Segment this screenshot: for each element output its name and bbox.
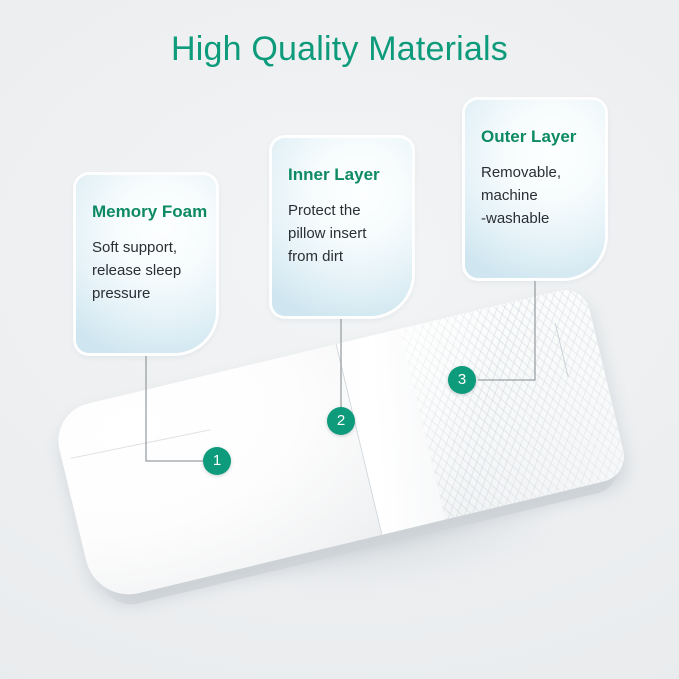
callout-body-3-line-3: -washable xyxy=(481,207,589,230)
callout-body-1: Soft support, release sleep pressure xyxy=(92,236,200,305)
callout-body-2-line-2: pillow insert xyxy=(288,222,396,245)
callout-memory-foam[interactable]: Memory Foam Soft support, release sleep … xyxy=(76,175,216,353)
marker-3[interactable]: 3 xyxy=(448,366,476,394)
callout-body-3-line-2: machine xyxy=(481,184,589,207)
callout-title-2: Inner Layer xyxy=(288,164,396,185)
callout-body-1-line-1: Soft support, xyxy=(92,236,200,259)
marker-2[interactable]: 2 xyxy=(327,407,355,435)
foam-crease xyxy=(71,429,210,458)
callout-outer-layer[interactable]: Outer Layer Removable, machine -washable xyxy=(465,100,605,278)
callout-body-2-line-1: Protect the xyxy=(288,199,396,222)
callout-body-1-line-2: release sleep xyxy=(92,259,200,282)
callout-body-3: Removable, machine -washable xyxy=(481,161,589,230)
product-image xyxy=(0,320,679,650)
callout-title-1: Memory Foam xyxy=(92,201,200,222)
page-title: High Quality Materials xyxy=(0,27,679,71)
callout-title-3: Outer Layer xyxy=(481,126,589,147)
callout-body-1-line-3: pressure xyxy=(92,282,200,305)
infographic-scene: High Quality Materials 1 2 3 Memory Foam xyxy=(0,0,679,679)
marker-1[interactable]: 1 xyxy=(203,447,231,475)
callout-inner-layer[interactable]: Inner Layer Protect the pillow insert fr… xyxy=(272,138,412,316)
callout-body-2-line-3: from dirt xyxy=(288,245,396,268)
callout-body-3-line-1: Removable, xyxy=(481,161,589,184)
callout-body-2: Protect the pillow insert from dirt xyxy=(288,199,396,268)
